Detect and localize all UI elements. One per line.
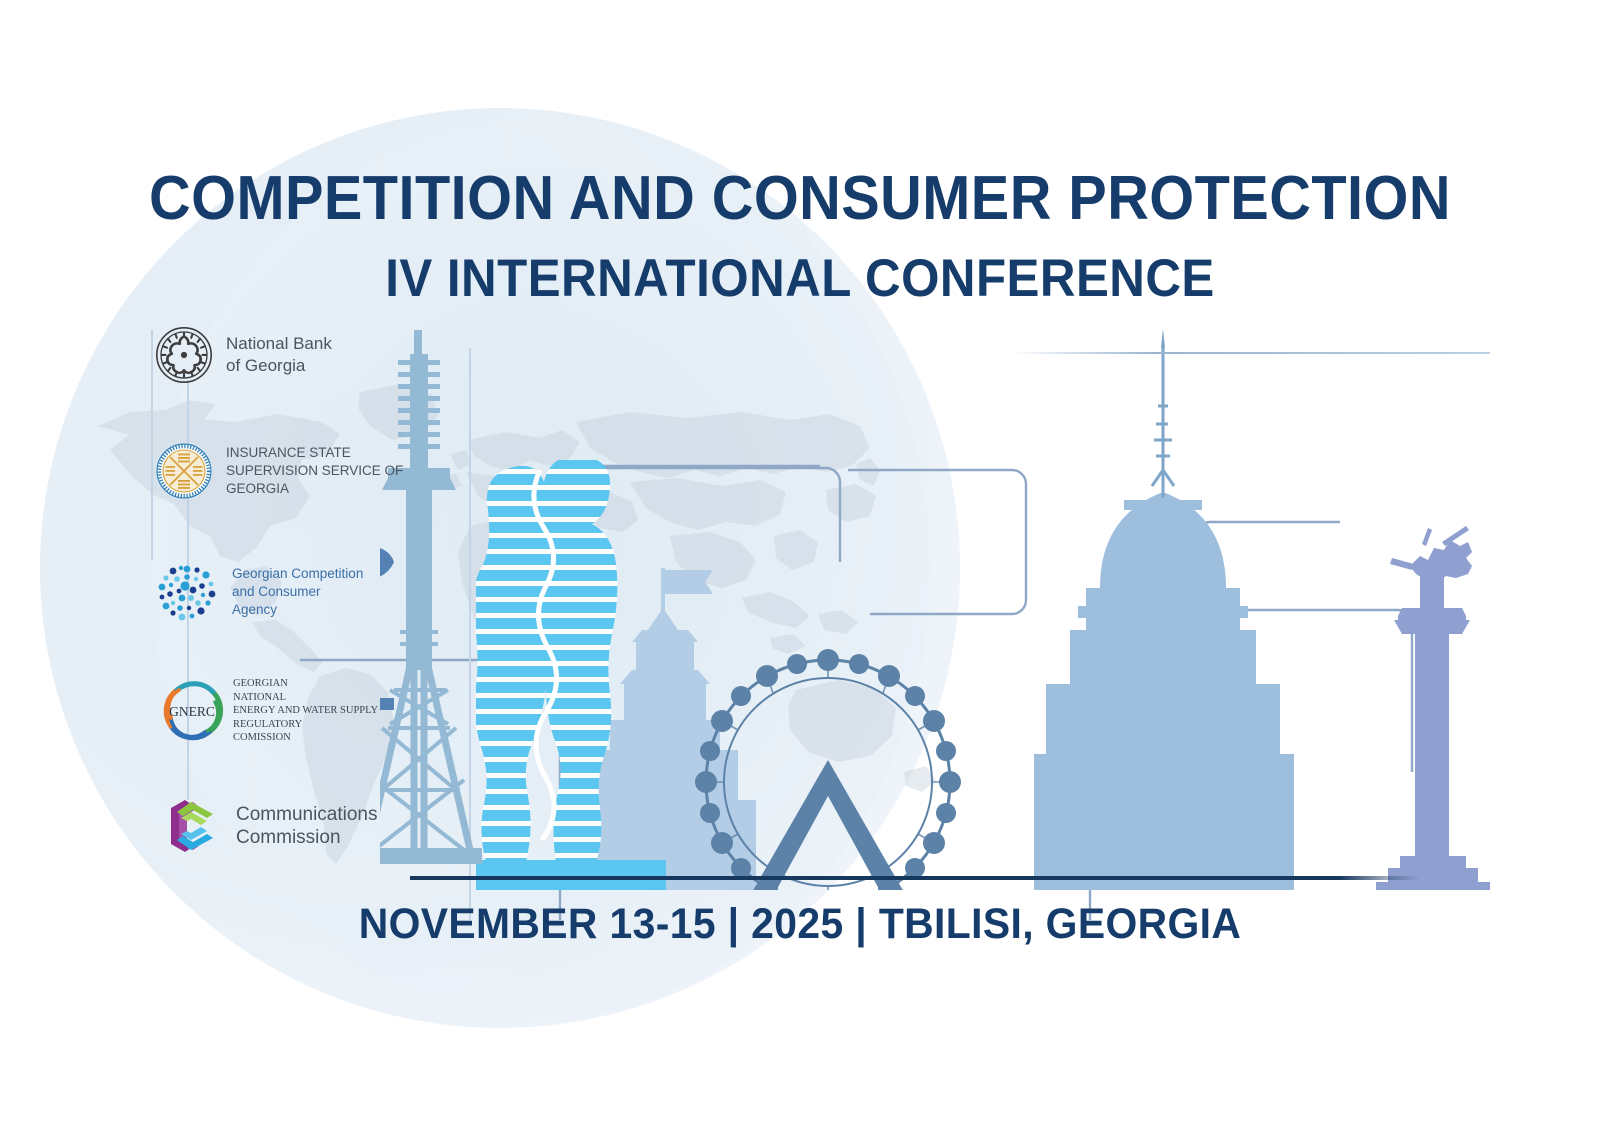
top-accent-line <box>1010 352 1490 354</box>
logo-line: SUPERVISION SERVICE OF <box>226 462 403 480</box>
tbilisi-skyline-illustration <box>380 330 1600 890</box>
gnerc-label: GEORGIAN NATIONAL ENERGY AND WATER SUPPL… <box>233 677 378 745</box>
logo-item-national-bank-of-georgia[interactable]: National Bank of Georgia <box>155 326 332 384</box>
communications-commission-icon <box>155 792 223 860</box>
logo-line: Georgian Competition <box>232 565 363 583</box>
mother-georgia-statue <box>380 483 394 890</box>
georgian-competition-agency-label: Georgian Competition and Consumer Agency <box>232 565 363 619</box>
communications-commission-label: Communications Commission <box>236 803 378 849</box>
national-bank-of-georgia-seal-icon <box>155 326 213 384</box>
svg-text:GNERC: GNERC <box>169 704 215 719</box>
logo-line: INSURANCE STATE <box>226 444 403 462</box>
logo-line: National Bank <box>226 333 332 355</box>
logo-line: GEORGIA <box>226 480 403 498</box>
logo-line: Commission <box>236 826 378 849</box>
ground-baseline <box>410 876 1420 880</box>
logo-item-gnerc[interactable]: GNERC GEORGIAN NATIONAL ENERGY AND WATER… <box>155 674 378 748</box>
spired-tower-building <box>1034 330 1294 890</box>
national-bank-of-georgia-label: National Bank of Georgia <box>226 333 332 377</box>
logo-line: ENERGY AND WATER SUPPLY <box>233 704 378 718</box>
logo-line: COMISSION <box>233 731 378 745</box>
logo-item-communications-commission[interactable]: Communications Commission <box>155 792 378 860</box>
georgian-competition-agency-dots-icon <box>155 560 219 624</box>
conference-poster: COMPETITION AND CONSUMER PROTECTION IV I… <box>0 0 1600 1142</box>
logo-item-insurance-state-supervision-service[interactable]: INSURANCE STATE SUPERVISION SERVICE OF G… <box>155 442 403 500</box>
logo-line: NATIONAL <box>233 691 378 705</box>
freedom-monument-column <box>1376 526 1490 890</box>
logo-line: Communications <box>236 803 378 826</box>
event-date-location: NOVEMBER 13-15 | 2025 | TBILISI, GEORGIA <box>40 900 1560 949</box>
insurance-state-supervision-label: INSURANCE STATE SUPERVISION SERVICE OF G… <box>226 444 403 498</box>
logo-line: and Consumer <box>232 583 363 601</box>
logo-item-georgian-competition-and-consumer-agency[interactable]: Georgian Competition and Consumer Agency <box>155 560 363 624</box>
gnerc-swirl-icon: GNERC <box>155 674 229 748</box>
logo-line: GEORGIAN <box>233 677 378 691</box>
tbilisi-tv-tower <box>380 330 482 864</box>
insurance-state-supervision-seal-icon <box>155 442 213 500</box>
logo-line: REGULATORY <box>233 718 378 732</box>
logo-line: Agency <box>232 601 363 619</box>
logo-line: of Georgia <box>226 355 332 377</box>
